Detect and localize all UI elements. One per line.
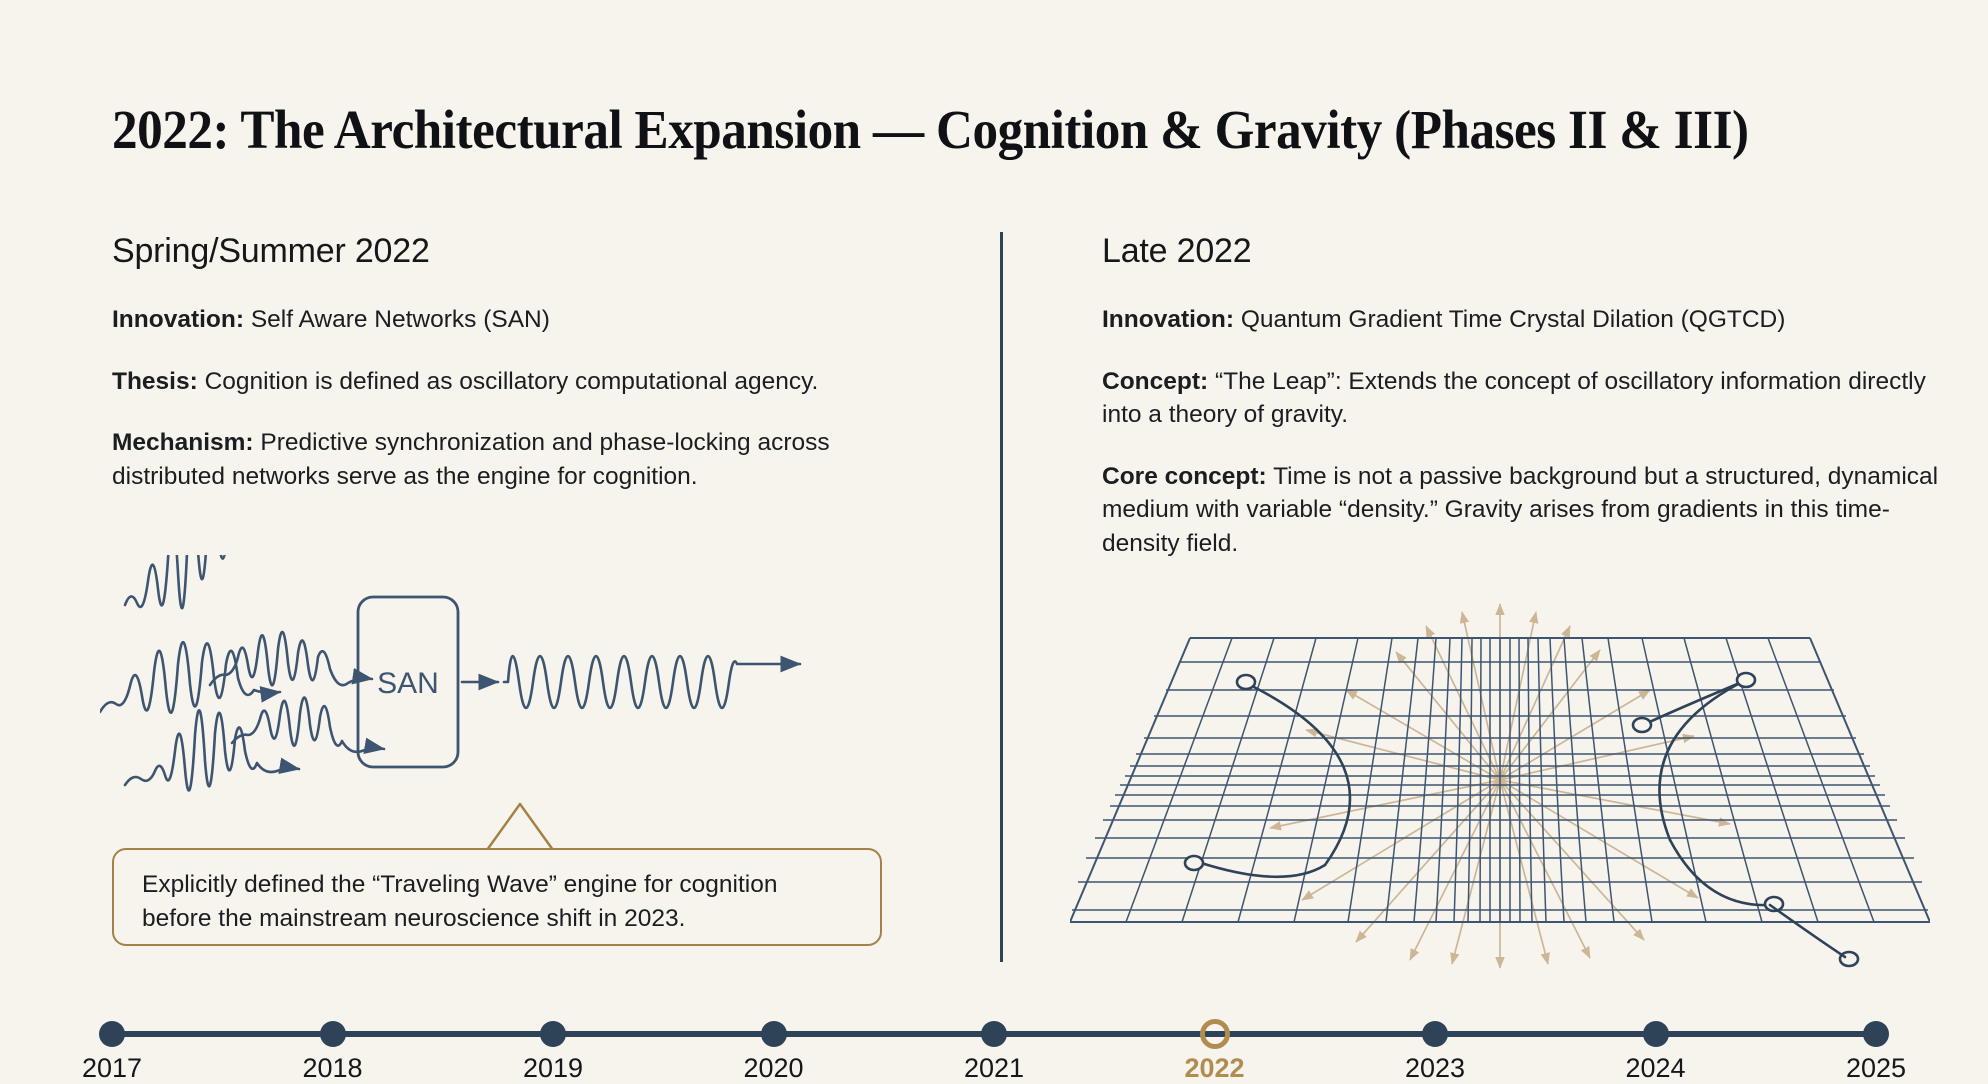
right-item-innovation-label: Innovation:	[1102, 306, 1234, 333]
input-wave-5	[125, 710, 299, 790]
timeline-node-2022[interactable]	[1200, 1019, 1230, 1049]
timeline-label-2018[interactable]: 2018	[302, 1053, 362, 1084]
timeline-label-2024[interactable]: 2024	[1625, 1053, 1685, 1084]
left-item-thesis-label: Thesis:	[112, 368, 198, 395]
timeline-node-2025[interactable]	[1863, 1021, 1889, 1047]
left-item-thesis: Thesis: Cognition is defined as oscillat…	[112, 365, 902, 399]
left-item-mechanism: Mechanism: Predictive synchronization an…	[112, 426, 902, 493]
timeline-label-2021[interactable]: 2021	[964, 1053, 1024, 1084]
right-item-concept-text: “The Leap”: Extends the concept of oscil…	[1102, 368, 1926, 429]
right-item-concept-label: Concept:	[1102, 368, 1208, 395]
timeline-label-2025[interactable]: 2025	[1846, 1053, 1906, 1084]
right-item-core-concept-label: Core concept:	[1102, 463, 1267, 490]
timeline-node-2023[interactable]	[1422, 1021, 1448, 1047]
timeline-node-2021[interactable]	[981, 1021, 1007, 1047]
left-column-heading: Spring/Summer 2022	[112, 232, 902, 271]
right-column: Late 2022 Innovation: Quantum Gradient T…	[1102, 232, 1942, 588]
left-column: Spring/Summer 2022 Innovation: Self Awar…	[112, 232, 902, 521]
output-coherent-wave	[504, 656, 800, 708]
callout-text: Explicitly defined the “Traveling Wave” …	[142, 868, 852, 936]
timeline-label-2019[interactable]: 2019	[523, 1053, 583, 1084]
timeline-node-2020[interactable]	[761, 1021, 787, 1047]
san-wave-diagram: SAN	[100, 555, 900, 815]
right-item-core-concept: Core concept: Time is not a passive back…	[1102, 460, 1942, 561]
left-item-mechanism-label: Mechanism:	[112, 429, 254, 456]
timeline-node-2017[interactable]	[99, 1021, 125, 1047]
left-item-innovation: Innovation: Self Aware Networks (SAN)	[112, 303, 902, 337]
timeline-node-2024[interactable]	[1643, 1021, 1669, 1047]
san-box-label: SAN	[377, 667, 439, 700]
callout-box: Explicitly defined the “Traveling Wave” …	[112, 848, 882, 946]
right-column-heading: Late 2022	[1102, 232, 1942, 271]
spacetime-density-grid	[1070, 590, 1930, 970]
left-item-innovation-label: Innovation:	[112, 306, 244, 333]
timeline-label-2017[interactable]: 2017	[82, 1053, 142, 1084]
input-wave-4	[232, 698, 384, 752]
timeline-label-2020[interactable]: 2020	[743, 1053, 803, 1084]
left-item-thesis-text: Cognition is defined as oscillatory comp…	[198, 368, 819, 395]
right-item-concept: Concept: “The Leap”: Extends the concept…	[1102, 365, 1942, 432]
page-title: 2022: The Architectural Expansion — Cogn…	[112, 98, 1749, 161]
timeline-node-2019[interactable]	[540, 1021, 566, 1047]
left-item-innovation-text: Self Aware Networks (SAN)	[244, 306, 550, 333]
geodesic-tail	[1770, 905, 1845, 957]
grid-vertical-lines	[1070, 638, 1930, 922]
column-divider	[1000, 232, 1003, 962]
timeline-label-2022[interactable]: 2022	[1184, 1053, 1244, 1084]
timeline: 201720182019202020212022202320242025	[0, 1005, 1988, 1080]
right-item-innovation-text: Quantum Gradient Time Crystal Dilation (…	[1234, 306, 1785, 333]
timeline-node-2018[interactable]	[320, 1021, 346, 1047]
input-wave-1	[125, 555, 299, 608]
right-item-innovation: Innovation: Quantum Gradient Time Crysta…	[1102, 303, 1942, 337]
timeline-label-2023[interactable]: 2023	[1405, 1053, 1465, 1084]
